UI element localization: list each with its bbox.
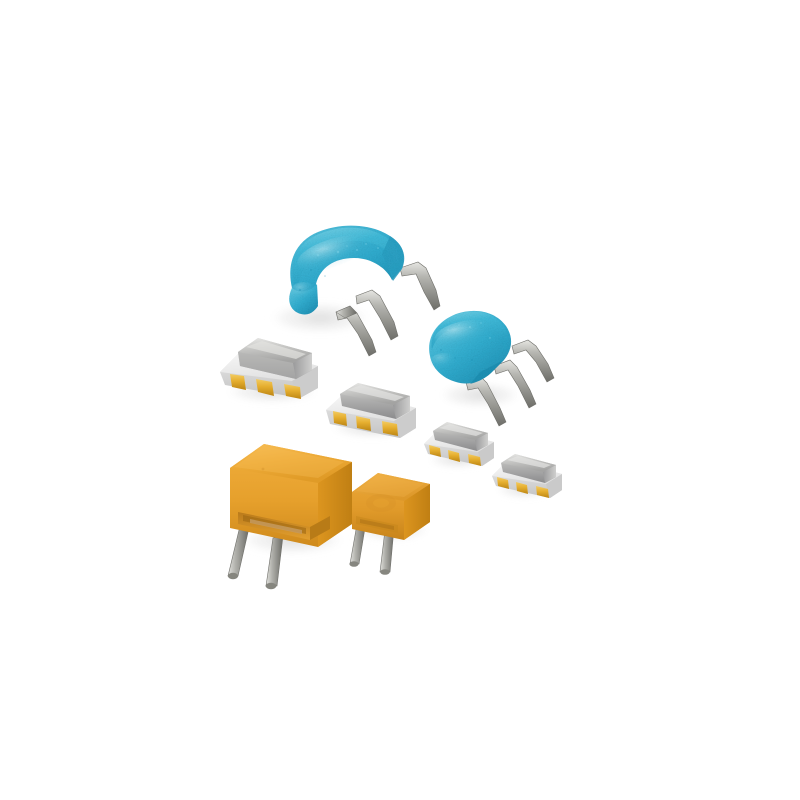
product-photo-canvas [0,0,800,800]
product-image-page: Crystal Oscillator/Resonator/Full Range … [0,0,800,800]
product-photo [0,0,800,800]
